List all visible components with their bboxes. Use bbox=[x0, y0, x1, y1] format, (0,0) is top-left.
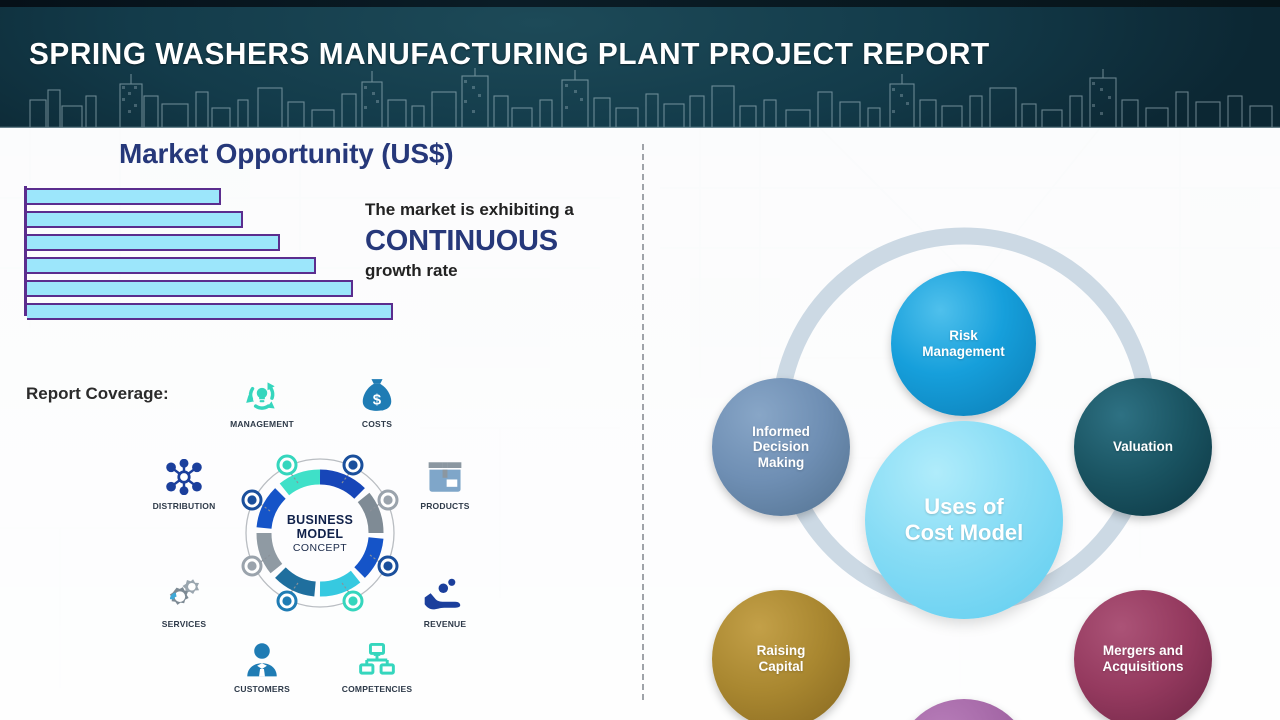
coverage-item-revenue: REVENUE bbox=[393, 573, 497, 629]
node-informed-decision-making[interactable]: InformedDecisionMaking bbox=[712, 378, 850, 516]
coverage-label: SERVICES bbox=[132, 619, 236, 629]
node-risk-management[interactable]: RiskManagement bbox=[891, 271, 1036, 416]
node-label: RaisingCapital bbox=[751, 643, 812, 674]
header-top-edge bbox=[0, 0, 1280, 7]
node-label: Uses ofCost Model bbox=[899, 494, 1030, 545]
business-model-wheel bbox=[232, 445, 408, 621]
coverage-label: DISTRIBUTION bbox=[132, 501, 236, 511]
hand-coins-icon bbox=[393, 573, 497, 617]
bar-5 bbox=[27, 303, 393, 320]
coverage-item-management: MANAGEMENT bbox=[210, 373, 314, 429]
callout-line-2: growth rate bbox=[365, 262, 633, 281]
market-opportunity-title: Market Opportunity (US$) bbox=[119, 138, 453, 170]
node-label: RiskManagement bbox=[916, 328, 1011, 359]
callout-line-1: The market is exhibiting a bbox=[365, 200, 633, 220]
node-label: InformedDecisionMaking bbox=[746, 424, 816, 471]
page-title: SPRING WASHERS MANUFACTURING PLANT PROJE… bbox=[29, 36, 990, 72]
node-uses-of-cost-model[interactable]: Uses ofCost Model bbox=[865, 421, 1063, 619]
bar-3 bbox=[27, 257, 316, 274]
right-panel: RiskManagement Valuation Mergers andAcqu… bbox=[642, 128, 1280, 720]
coverage-label: CUSTOMERS bbox=[210, 684, 314, 694]
city-skyline-graphic bbox=[0, 66, 1280, 128]
node-valuation[interactable]: Valuation bbox=[1074, 378, 1212, 516]
left-panel: Market Opportunity (US$) The market is e… bbox=[0, 128, 642, 720]
bar-2 bbox=[27, 234, 280, 251]
person-user-icon bbox=[210, 638, 314, 682]
coverage-label: MANAGEMENT bbox=[210, 419, 314, 429]
bar-4 bbox=[27, 280, 353, 297]
callout-highlight: CONTINUOUS bbox=[365, 220, 633, 262]
bar-0 bbox=[27, 188, 221, 205]
node-label: Mergers andAcquisitions bbox=[1096, 643, 1189, 674]
coverage-label: COMPETENCIES bbox=[325, 684, 429, 694]
node-raising-capital[interactable]: RaisingCapital bbox=[712, 590, 850, 720]
coverage-label: COSTS bbox=[325, 419, 429, 429]
market-callout: The market is exhibiting a CONTINUOUS gr… bbox=[365, 200, 633, 280]
money-bag-icon: $ bbox=[325, 373, 429, 417]
org-chart-icon bbox=[325, 638, 429, 682]
coverage-item-products: PRODUCTS bbox=[393, 455, 497, 511]
node-label: Valuation bbox=[1107, 439, 1179, 455]
coverage-item-competencies: COMPETENCIES bbox=[325, 638, 429, 694]
page-header: SPRING WASHERS MANUFACTURING PLANT PROJE… bbox=[0, 0, 1280, 128]
box-package-icon bbox=[393, 455, 497, 499]
coverage-label: REVENUE bbox=[393, 619, 497, 629]
network-nodes-icon bbox=[132, 455, 236, 499]
node-mergers-and-acquisitions[interactable]: Mergers andAcquisitions bbox=[1074, 590, 1212, 720]
bar-1 bbox=[27, 211, 243, 228]
svg-text:$: $ bbox=[373, 392, 382, 409]
coverage-label: PRODUCTS bbox=[393, 501, 497, 511]
recycle-lightbulb-icon bbox=[210, 373, 314, 417]
coverage-item-customers: CUSTOMERS bbox=[210, 638, 314, 694]
slide-body: Market Opportunity (US$) The market is e… bbox=[0, 128, 1280, 720]
coverage-item-services: SERVICES bbox=[132, 573, 236, 629]
coverage-item-costs: $ COSTS bbox=[325, 373, 429, 429]
gears-icon bbox=[132, 573, 236, 617]
report-coverage-diagram: MANAGEMENT $ COSTS bbox=[140, 373, 500, 703]
market-opportunity-bar-chart bbox=[24, 186, 404, 316]
coverage-item-distribution: DISTRIBUTION bbox=[132, 455, 236, 511]
